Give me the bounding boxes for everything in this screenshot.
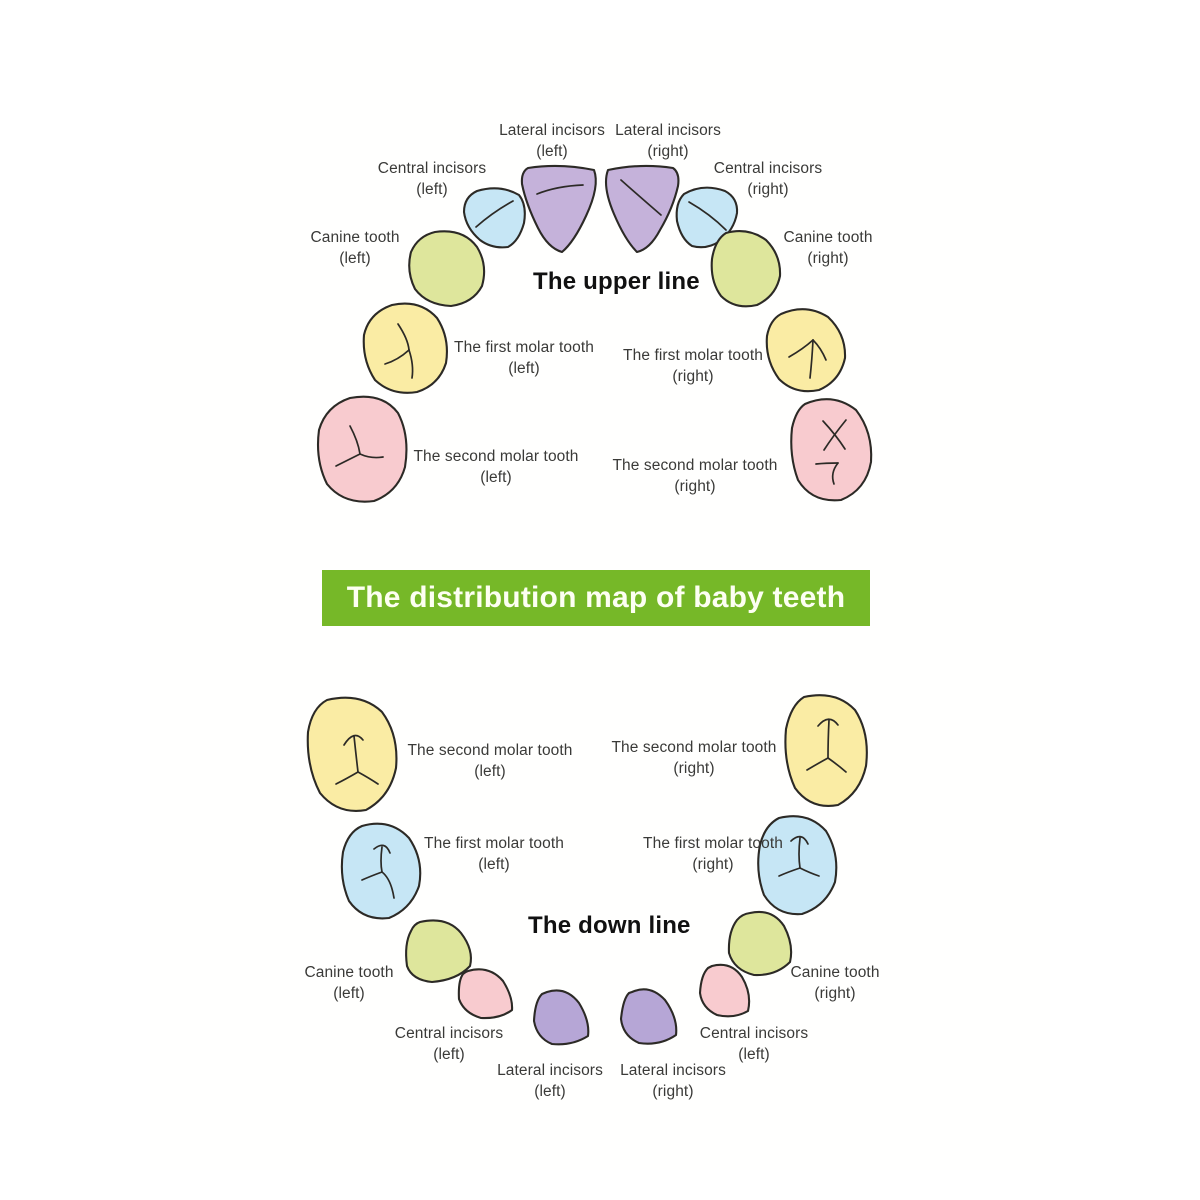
- label-text: The second molar tooth: [612, 457, 777, 474]
- lower-arch-caption: The down line: [528, 912, 691, 940]
- tooth-lower-central-incisor-right: [700, 965, 749, 1017]
- label-side: (right): [637, 854, 789, 875]
- tooth-lower-second-molar-right: [785, 695, 866, 806]
- label-side: (left): [300, 248, 410, 269]
- label-text: Canine tooth: [783, 229, 872, 246]
- label-lower-second-molar-left: The second molar tooth (left): [404, 740, 576, 782]
- label-lower-central-incisor-right: Central incisors (left): [694, 1023, 814, 1065]
- label-side: (right): [617, 366, 769, 387]
- label-text: The second molar tooth: [407, 742, 572, 759]
- label-side: (left): [492, 141, 612, 162]
- label-upper-central-incisor-left: Central incisors (left): [372, 158, 492, 200]
- tooth-upper-second-molar-left: [318, 397, 406, 502]
- label-side: (left): [448, 358, 600, 379]
- tooth-upper-first-molar-left: [364, 304, 447, 393]
- label-upper-first-molar-right: The first molar tooth (right): [617, 345, 769, 387]
- label-lower-central-incisor-left: Central incisors (left): [389, 1023, 509, 1065]
- upper-arch-caption: The upper line: [533, 268, 700, 296]
- title-banner-text: The distribution map of baby teeth: [347, 581, 845, 615]
- label-text: Lateral incisors: [499, 122, 605, 139]
- label-text: The first molar tooth: [424, 835, 564, 852]
- label-upper-lateral-incisor-left: Lateral incisors (left): [492, 120, 612, 162]
- label-side: (left): [294, 983, 404, 1004]
- tooth-upper-canine-right: [712, 231, 780, 306]
- label-text: Canine tooth: [790, 964, 879, 981]
- label-text: The first molar tooth: [454, 339, 594, 356]
- label-text: The second molar tooth: [413, 448, 578, 465]
- label-side: (right): [613, 1081, 733, 1102]
- label-upper-canine-right: Canine tooth (right): [773, 227, 883, 269]
- label-text: Lateral incisors: [620, 1062, 726, 1079]
- label-lower-lateral-incisor-right: Lateral incisors (right): [613, 1060, 733, 1102]
- label-text: Canine tooth: [304, 964, 393, 981]
- label-text: The second molar tooth: [611, 739, 776, 756]
- label-upper-canine-left: Canine tooth (left): [300, 227, 410, 269]
- label-upper-central-incisor-right: Central incisors (right): [708, 158, 828, 200]
- tooth-lower-lateral-incisor-right: [621, 989, 676, 1043]
- tooth-upper-lateral-incisor-right: [606, 166, 678, 252]
- tooth-upper-first-molar-right: [767, 309, 845, 391]
- tooth-lower-central-incisor-left: [459, 969, 512, 1018]
- label-lower-second-molar-right: The second molar tooth (right): [608, 737, 780, 779]
- tooth-lower-canine-left: [406, 920, 471, 982]
- label-text: Lateral incisors: [497, 1062, 603, 1079]
- label-lower-canine-right: Canine tooth (right): [780, 962, 890, 1004]
- baby-teeth-distribution-diagram: Lateral incisors (left) Lateral incisors…: [0, 0, 1200, 1200]
- label-text: Central incisors: [378, 160, 486, 177]
- label-lower-canine-left: Canine tooth (left): [294, 962, 404, 1004]
- label-side: (right): [609, 476, 781, 497]
- tooth-lower-lateral-incisor-left: [534, 990, 588, 1044]
- tooth-upper-lateral-incisor-left: [522, 166, 596, 252]
- label-lower-lateral-incisor-left: Lateral incisors (left): [490, 1060, 610, 1102]
- label-upper-first-molar-left: The first molar tooth (left): [448, 337, 600, 379]
- label-text: Central incisors: [700, 1025, 808, 1042]
- label-text: Central incisors: [395, 1025, 503, 1042]
- label-upper-lateral-incisor-right: Lateral incisors (right): [608, 120, 728, 162]
- label-text: The first molar tooth: [623, 347, 763, 364]
- label-upper-second-molar-left: The second molar tooth (left): [410, 446, 582, 488]
- label-side: (left): [404, 761, 576, 782]
- label-side: (right): [780, 983, 890, 1004]
- tooth-upper-canine-left: [409, 231, 484, 306]
- label-side: (right): [708, 179, 828, 200]
- label-side: (left): [372, 179, 492, 200]
- label-side: (left): [410, 467, 582, 488]
- tooth-lower-second-molar-left: [308, 698, 397, 811]
- label-text: Lateral incisors: [615, 122, 721, 139]
- label-text: Central incisors: [714, 160, 822, 177]
- tooth-lower-first-molar-left: [342, 824, 420, 919]
- label-side: (right): [608, 758, 780, 779]
- label-lower-first-molar-left: The first molar tooth (left): [418, 833, 570, 875]
- label-upper-second-molar-right: The second molar tooth (right): [609, 455, 781, 497]
- label-text: Canine tooth: [310, 229, 399, 246]
- title-banner: The distribution map of baby teeth: [322, 570, 870, 626]
- label-text: The first molar tooth: [643, 835, 783, 852]
- label-lower-first-molar-right: The first molar tooth (right): [637, 833, 789, 875]
- label-side: (right): [773, 248, 883, 269]
- label-side: (left): [490, 1081, 610, 1102]
- label-side: (left): [418, 854, 570, 875]
- tooth-upper-second-molar-right: [791, 399, 871, 500]
